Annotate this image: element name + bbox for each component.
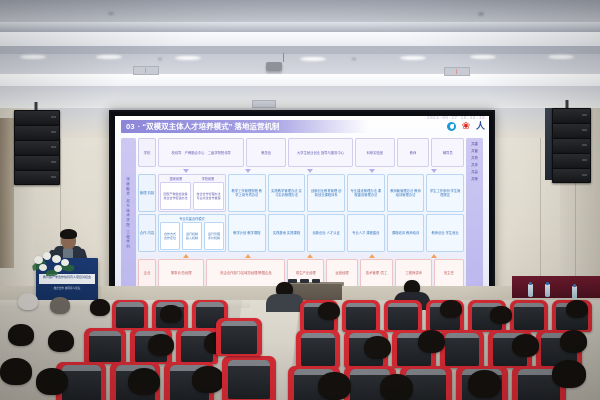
policy-head-school: 学校政策 (202, 176, 215, 181)
ceiling-slab-4 (0, 54, 600, 74)
diagram-row-cooperation: 合作 内容 专业共建合作模式 合作方式 合作定位 运行机制 投入机制 运行管理 … (138, 214, 464, 252)
arrow-down-icon (369, 169, 375, 173)
audience-head (148, 334, 174, 356)
audience-shoulders (266, 294, 304, 312)
seat[interactable] (342, 300, 380, 332)
audience-head (552, 360, 586, 388)
audience-head (560, 330, 587, 353)
logo-group: ❀ 人 (447, 122, 485, 131)
seat[interactable] (510, 300, 548, 332)
audience-head (318, 372, 351, 400)
speaker-module (14, 140, 60, 156)
flower (39, 264, 47, 271)
speaker-module (14, 125, 60, 141)
audience-head (418, 330, 445, 353)
line-array-speaker-left (14, 108, 58, 186)
audience-head (8, 324, 34, 346)
speaker-module (14, 155, 60, 171)
slide-title-bar: 03 · “双模双主体人才培养模式” 落地运营机制 (121, 120, 369, 133)
right-band-item: 共建 (471, 142, 478, 146)
arrow-down-icon (183, 169, 189, 173)
row-label-management: 管理 机制 (138, 174, 156, 212)
huawei-flower-icon: ❀ (461, 122, 471, 131)
row-cells-cooperation: 专业共建合作模式 合作方式 合作定位 运行机制 投入机制 运行管理 评价机制 教… (158, 214, 464, 252)
audience-head (48, 330, 74, 352)
diagram-cell[interactable]: 创新创业教育管理 创新创业课程体系 (307, 174, 345, 212)
speaker-module (552, 108, 591, 124)
water-bottle (545, 284, 550, 297)
draped-side-table (512, 276, 600, 298)
downlight (175, 56, 201, 60)
slide-title-number: 03 (121, 122, 135, 131)
arrow-down-icon (245, 169, 251, 173)
diagram-cell[interactable]: 实践基地 实践课程 (268, 214, 306, 252)
diagram-cell[interactable]: 董事长/总经理 (158, 259, 204, 288)
seat[interactable] (112, 300, 148, 330)
diagram-cell[interactable]: 教学计划 教学课程 (228, 214, 266, 252)
diagram-cell[interactable]: 学生工作条例 学生管理规定 (426, 174, 464, 212)
seat[interactable] (440, 330, 484, 368)
speaker-module (14, 170, 60, 185)
arrow-up-icon (431, 254, 437, 258)
slide-header: 03 · “双模双主体人才培养模式” 落地运营机制 2024-08-27 10:… (115, 116, 489, 138)
arrow-row-down (138, 167, 464, 174)
coop-head: 专业共建合作模式 (179, 216, 205, 221)
right-band-item: 共赢 (471, 170, 478, 174)
coop-box[interactable]: 运行管理 评价机制 (204, 222, 224, 250)
downlight (300, 57, 326, 61)
left-vertical-band: 深度融合·双方技术学院·工程学科 (121, 138, 136, 288)
page-title: · “双模双主体人才培养模式” 落地运营机制 (135, 121, 280, 132)
ceiling-sensor (352, 58, 356, 60)
arrow-up-icon (369, 254, 375, 258)
arrow-slot (280, 254, 340, 258)
downlight (548, 55, 574, 59)
av-equipment (300, 279, 309, 283)
presentation-slide: 03 · “双模双主体人才培养模式” 落地运营机制 2024-08-27 10:… (115, 116, 489, 292)
audience-head (468, 370, 501, 398)
diagram-row-school: 学校 校领导 产教融合中心 二级学院院领导 教务处 大学生就业创业 指导与服务中… (138, 138, 464, 167)
speaker-module (552, 153, 591, 169)
downlight (96, 55, 122, 59)
policy-box[interactable]: 校企合作管理办法 专业共建合作章程 (193, 182, 224, 210)
right-vertical-band: 共建 共管 共育 共享 共赢 共荣 (466, 138, 483, 288)
speaker-module (14, 110, 60, 126)
arrow-slot (156, 254, 216, 258)
row-label-enterprise: 企业 (138, 259, 156, 288)
ceiling-slab-3 (0, 46, 600, 54)
diagram-cell[interactable]: 班主任 (434, 259, 464, 288)
ceiling-slab-1 (0, 0, 600, 22)
ren-character-icon: 人 (476, 122, 485, 131)
audience-head (36, 368, 68, 395)
door-frame[interactable] (0, 118, 14, 268)
diagram-cell[interactable]: 创新创业 人才认证 (307, 214, 345, 252)
arrow-slot (342, 169, 402, 173)
arrow-up-icon (245, 254, 251, 258)
audience-head (192, 366, 224, 393)
flower (34, 256, 43, 264)
circle-logo-icon (447, 122, 456, 131)
seat[interactable] (216, 318, 262, 356)
diagram-cell[interactable]: 大学生就业创业 指导与服务中心 (288, 138, 353, 167)
audience-head (18, 293, 38, 310)
wall-seam (540, 138, 541, 283)
audience-head (318, 302, 340, 320)
policy-subgroup-boxes: 国家产教融合政策 校企合作促进办法 校企合作管理办法 专业共建合作章程 (160, 182, 224, 210)
audience-head (490, 306, 512, 324)
audience-head (128, 368, 160, 395)
row-label-school: 学校 (138, 138, 156, 167)
ceiling-vent (252, 100, 276, 108)
arrow-slot (342, 254, 402, 258)
arrow-row-up (138, 252, 464, 259)
arrow-down-icon (307, 169, 313, 173)
diagram-cell[interactable]: 辅导员 (431, 138, 464, 167)
row-cells-management: 国家政策 学校政策 国家产教融合政策 校企合作促进办法 校企合作管理办法 专业共… (158, 174, 464, 212)
auditorium-photo: 03 · “双模双主体人才培养模式” 落地运营机制 2024-08-27 10:… (0, 0, 600, 400)
diagram-cell[interactable]: 实践教学管理办法 实习实训管理办法 (268, 174, 306, 212)
policy-head-national: 国家政策 (170, 176, 183, 181)
seat[interactable] (84, 328, 126, 364)
seat[interactable] (296, 330, 340, 368)
flower (54, 265, 62, 272)
arrow-up-icon (183, 254, 189, 258)
audience-head (0, 358, 32, 385)
diagram-cell[interactable]: 教师创业 学生就业 (426, 214, 464, 252)
diagram-grid: 学校 校领导 产教融合中心 二级学院院领导 教务处 大学生就业创业 指导与服务中… (138, 138, 464, 288)
flower (61, 259, 69, 266)
audience-head (440, 300, 462, 318)
ceiling-sensor (158, 58, 162, 60)
flower (43, 252, 51, 260)
audience-head (364, 336, 391, 359)
right-band-item: 共享 (471, 163, 478, 167)
arrow-down-icon (431, 169, 437, 173)
right-band-item: 共育 (471, 156, 478, 160)
diagram-cell[interactable]: 技术管理 /员工 (360, 259, 393, 288)
ceiling-sensor (108, 12, 114, 15)
arrow-up-icon (307, 254, 313, 258)
flower-arrangement (30, 250, 76, 276)
audience-head (380, 374, 413, 400)
diagram-cell[interactable]: 专业人才 课程建设 (347, 214, 385, 252)
coop-subgroup: 专业共建合作模式 合作方式 合作定位 运行机制 投入机制 运行管理 评价机制 (158, 214, 226, 252)
slide-diagram: 深度融合·双方技术学院·工程学科 学校 校领导 产教融合中心 二级学院院领导 教… (121, 138, 483, 288)
flower (52, 255, 61, 263)
audience-head (566, 300, 588, 318)
ceiling-projector-icon (266, 62, 282, 71)
ceiling-light-strip-2 (0, 74, 600, 86)
speaker-module (552, 138, 591, 154)
speaker-module (552, 168, 591, 183)
presenter-hair (60, 229, 77, 239)
projection-screen: 03 · “双模双主体人才培养模式” 落地运营机制 2024-08-27 10:… (109, 110, 495, 298)
arrow-slot (156, 169, 216, 173)
ceiling-sensor (478, 12, 484, 16)
arrow-slot (218, 169, 278, 173)
downlight (400, 56, 426, 60)
diagram-cell[interactable]: 校企合作部门/区域总经理/跨国企品 (206, 259, 285, 288)
left-band-label: 深度融合·双方技术学院·工程学科 (126, 177, 132, 249)
seat[interactable] (222, 356, 276, 400)
row-label-cooperation: 合作 内容 (138, 214, 156, 252)
audience-head (512, 334, 539, 357)
diagram-cell[interactable]: 教学工作管理规程 教学上岗专项办法 (228, 174, 266, 212)
ceiling-light-strip-1 (0, 32, 600, 46)
ceiling-slab-2 (0, 22, 600, 32)
line-array-speaker-right (545, 106, 589, 184)
av-equipment (312, 279, 320, 283)
policy-box[interactable]: 国家产教融合政策 校企合作促进办法 (160, 182, 191, 210)
diagram-cell[interactable]: 科研实验室 (355, 138, 395, 167)
arrow-slot (280, 169, 340, 173)
coop-box[interactable]: 合作方式 合作定位 (160, 222, 180, 250)
diagram-cell[interactable]: 课程培训 教师培训 (387, 214, 425, 252)
right-band-item: 共管 (471, 149, 478, 153)
projector-mount (283, 53, 284, 62)
ceiling-vent (444, 67, 470, 76)
ceiling-vent (133, 66, 159, 75)
seat[interactable] (384, 300, 422, 332)
row-cells-school: 校领导 产教融合中心 二级学院院领导 教务处 大学生就业创业 指导与服务中心 科… (158, 138, 464, 167)
water-bottle (572, 286, 577, 299)
policy-subgroup: 国家政策 学校政策 国家产教融合政策 校企合作促进办法 校企合作管理办法 专业共… (158, 174, 226, 212)
diagram-cell[interactable]: 教师聚管理办法 教师培训管理办法 (387, 174, 425, 212)
diagram-cell[interactable]: 教师 (397, 138, 430, 167)
downlight (470, 55, 496, 59)
arrow-slot (404, 169, 464, 173)
audience-head (90, 299, 110, 316)
speaker-module (552, 123, 591, 139)
water-bottle (528, 284, 533, 297)
downlight (20, 55, 46, 59)
ceiling-slab-5 (0, 86, 600, 108)
right-band-item: 共荣 (471, 177, 478, 181)
diagram-row-management: 管理 机制 国家政策 学校政策 国家产教融合政策 校企合作促进办法 校企合作管理… (138, 174, 464, 212)
coop-subgroup-boxes: 合作方式 合作定位 运行机制 投入机制 运行管理 评价机制 (160, 222, 224, 250)
audience-head (50, 297, 70, 314)
arrow-slot (404, 254, 464, 258)
diagram-cell[interactable]: 专业建设管理办法 课程建设管理办法 (347, 174, 385, 212)
podium-banner-subtext: 校企合作·协同育人论坛 (40, 286, 94, 290)
diagram-cell[interactable]: 校领导 产教融合中心 二级学院院领导 (158, 138, 244, 167)
audience-head (160, 305, 182, 323)
arrow-slot (218, 254, 278, 258)
coop-box[interactable]: 运行机制 投入机制 (182, 222, 202, 250)
diagram-cell[interactable]: 教务处 (246, 138, 286, 167)
